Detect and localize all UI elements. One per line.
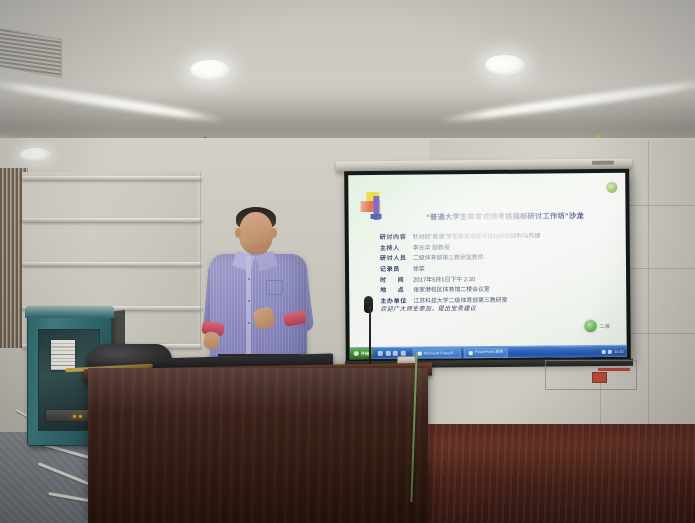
slide-row-value: 针对校“普通”学生体育成绩考核指标的研制与构建 (413, 234, 541, 243)
taskbar-window-button[interactable]: Microsoft PowerP... (413, 348, 462, 358)
rack-top-cap (25, 306, 114, 318)
conference-room-photo: “普通大学生体育成绩考核指标研讨工作坊”沙龙 研讨内容 针对校“普通”学生体育成… (0, 0, 695, 523)
deco-blue-block (371, 214, 382, 219)
slide-row: 主持人 李光华 副教授 (380, 244, 615, 254)
powerpoint-slideshow-icon (469, 351, 473, 355)
start-button-label: 开始 (361, 351, 369, 357)
ceiling-downlight-1 (190, 60, 230, 80)
shirt-pocket (266, 280, 283, 295)
housing-label (592, 161, 614, 165)
wall-trim-strip (22, 262, 202, 267)
media-player-icon[interactable] (393, 351, 398, 356)
slide-row-label: 时 间 (380, 277, 413, 285)
organization-logo-icon (584, 320, 596, 332)
rack-paper-note (51, 340, 75, 370)
slide-row: 地 点 张家港校区体育馆二楼会议室 (380, 286, 615, 296)
slide-body: 研讨内容 针对校“普通”学生体育成绩考核指标的研制与构建 主持人 李光华 副教授… (380, 233, 616, 310)
taskbar-window-label: Microsoft PowerP... (424, 351, 456, 355)
shirt-placket (246, 256, 251, 364)
rack-led-indicator (73, 415, 76, 418)
wall-panel-outline (545, 360, 637, 390)
slide-row: 研讨内容 针对校“普通”学生体育成绩考核指标的研制与构建 (380, 233, 615, 243)
slide-row-label: 记录员 (380, 267, 413, 275)
clock[interactable]: 14:32 (614, 349, 624, 353)
projector-screen-frame: “普通大学生体育成绩考核指标研讨工作坊”沙龙 研讨内容 针对校“普通”学生体育成… (344, 169, 631, 363)
slide-title: “普通大学生体育成绩考核指标研讨工作坊”沙龙 (393, 211, 618, 223)
organization-logo-text: 二级 (599, 322, 610, 329)
slide-row-value: 徐菜 (413, 267, 425, 275)
ceiling-downlight-2 (485, 55, 525, 75)
slide-row-value: 2017年5月1日下午 2:30 (413, 277, 475, 285)
slide-row: 时 间 2017年5月1日下午 2:30 (380, 276, 615, 286)
slide-row-label: 地 点 (380, 288, 413, 296)
slide-row-value: 李光华 副教授 (413, 245, 450, 253)
wall-trim-strip (22, 218, 202, 223)
volume-icon[interactable] (602, 349, 606, 353)
slide-row-label: 研讨人员 (380, 256, 413, 264)
projected-slide[interactable]: “普通大学生体育成绩考核指标研讨工作坊”沙龙 研讨内容 针对校“普通”学生体育成… (348, 173, 627, 359)
slide-logo-top-right (606, 182, 617, 193)
taskbar-window-button[interactable]: PowerPoint 放映 (464, 347, 508, 357)
system-tray[interactable]: 14:32 (602, 349, 627, 353)
slide-row-label: 主持人 (380, 245, 413, 253)
windows-logo-icon (354, 351, 359, 356)
windows-taskbar[interactable]: 开始 Microsoft PowerP... PowerPoint 放映 (350, 345, 627, 359)
presenter-ear-left (235, 228, 241, 238)
rack-led-indicator (79, 415, 82, 418)
ceiling-downlight-3 (20, 148, 50, 161)
slide-decoration-graphic (360, 192, 386, 222)
slide-row: 研讨人员 二级体育部第三教研室教师 (380, 254, 615, 264)
browser-icon[interactable] (386, 351, 391, 356)
wall-red-strip (598, 368, 630, 371)
slide-row: 记录员 徐菜 (380, 265, 615, 275)
presenter-ear-right (271, 228, 277, 238)
powerpoint-icon (418, 351, 422, 355)
wall-trim-strip (22, 176, 202, 181)
shirt-button (248, 278, 250, 280)
taskbar-window-label: PowerPoint 放映 (475, 350, 503, 355)
slide-footer-note: 欢迎广大师生参加，提出宝贵建议 (380, 303, 476, 313)
network-icon[interactable] (608, 349, 612, 353)
show-desktop-icon[interactable] (378, 351, 383, 356)
slide-row-label: 研讨内容 (380, 235, 413, 243)
slide-row-value: 二级体育部第三教研室教师 (413, 255, 484, 263)
wall-outlet-box (592, 372, 607, 383)
shirt-button (248, 300, 250, 302)
shirt-button (248, 322, 250, 324)
wood-grain (400, 424, 695, 523)
folder-icon[interactable] (401, 351, 406, 356)
wood-wainscot (400, 424, 695, 523)
slide-logo-bottom-right: 二级 (584, 320, 610, 332)
podium-highlight (88, 368, 428, 412)
slide-row-value: 张家港校区体育馆二楼会议室 (413, 287, 490, 295)
wall-seam-vertical (648, 140, 649, 425)
podium (88, 368, 428, 523)
